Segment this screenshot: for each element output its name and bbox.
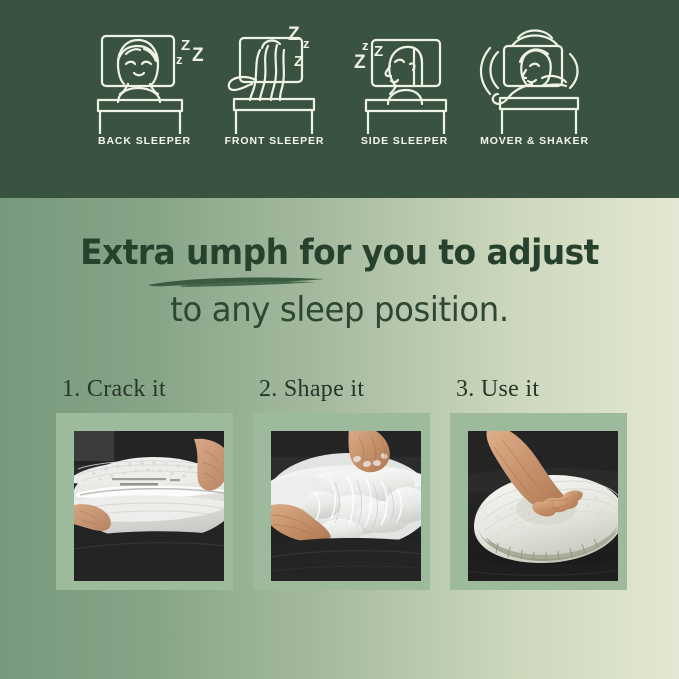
headline-underline-wrap [0, 274, 679, 288]
photo-shape-it [271, 431, 430, 590]
step-3-title: 3. Use it [450, 376, 627, 403]
headline-block: Extra umph for you to adjust to any slee… [0, 232, 679, 330]
svg-text:Z: Z [354, 52, 366, 73]
svg-text:Z: Z [181, 37, 190, 54]
back-sleeper-icon: z Z Z [80, 14, 210, 134]
step-1: 1. Crack it [56, 376, 233, 590]
svg-text:Z: Z [294, 53, 303, 70]
step-2-title: 2. Shape it [253, 376, 430, 403]
svg-text:Z: Z [288, 24, 300, 45]
step-1-photo-frame [56, 413, 233, 590]
sleeper-card-back: z Z Z BACK SLEEPER [80, 14, 210, 174]
side-sleeper-icon: z Z Z [340, 14, 470, 134]
svg-text:z: z [362, 38, 369, 53]
sleeper-types-header: z Z Z BACK SLEEPER [0, 0, 679, 198]
steps-row: 1. Crack it [56, 376, 628, 590]
promo-image-root: z Z Z BACK SLEEPER [0, 0, 679, 679]
sleeper-card-mover: MOVER & SHAKER [470, 14, 600, 174]
svg-text:z: z [176, 52, 183, 67]
step-3-photo-frame [450, 413, 627, 590]
mover-shaker-icon [470, 14, 600, 134]
underline-swoosh-icon [146, 276, 328, 288]
sleeper-label-back: BACK SLEEPER [98, 135, 191, 147]
headline-line-1: Extra umph for you to adjust [20, 232, 658, 274]
photo-crack-it [74, 431, 233, 590]
headline-line-2: to any sleep position. [17, 290, 662, 330]
sleeper-card-front: Z z Z FRONT SLEEPER [210, 14, 340, 174]
step-2: 2. Shape it [253, 376, 430, 590]
svg-text:z: z [303, 36, 310, 51]
sleeper-label-mover: MOVER & SHAKER [480, 135, 589, 147]
step-3: 3. Use it [450, 376, 627, 590]
step-1-title: 1. Crack it [56, 376, 233, 403]
svg-text:Z: Z [192, 45, 204, 66]
sleeper-label-front: FRONT SLEEPER [225, 135, 325, 147]
step-2-photo-frame [253, 413, 430, 590]
sleeper-card-side: z Z Z SIDE SLEEPER [340, 14, 470, 174]
sleeper-label-side: SIDE SLEEPER [361, 135, 448, 147]
photo-use-it [468, 431, 627, 590]
front-sleeper-icon: Z z Z [210, 14, 340, 134]
svg-text:Z: Z [374, 43, 383, 60]
sleeper-types-row: z Z Z BACK SLEEPER [0, 0, 679, 198]
